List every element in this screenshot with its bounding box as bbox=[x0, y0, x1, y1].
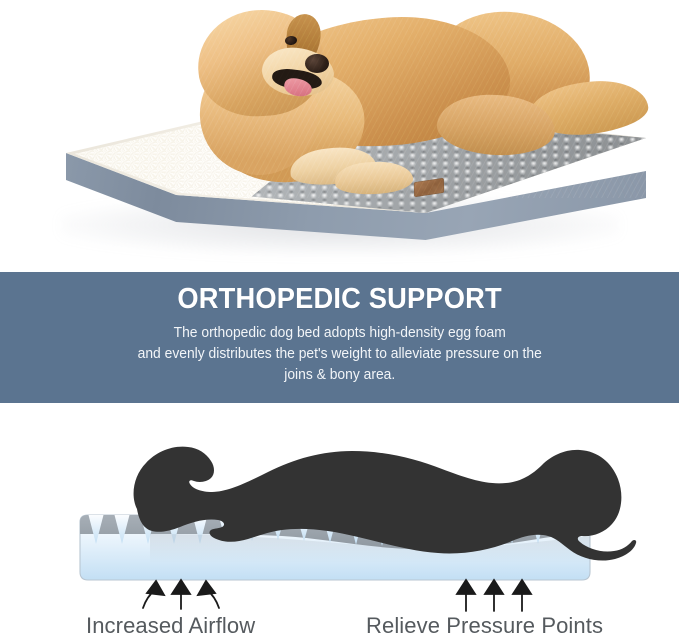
airflow-arrow-2 bbox=[172, 580, 190, 609]
orthopedic-support-banner: ORTHOPEDIC SUPPORT The orthopedic dog be… bbox=[0, 272, 679, 403]
banner-description-line-1: The orthopedic dog bed adopts high-densi… bbox=[137, 323, 541, 344]
product-photo-section bbox=[0, 0, 679, 272]
infographic-page: ORTHOPEDIC SUPPORT The orthopedic dog be… bbox=[0, 0, 679, 641]
pressure-arrow-3 bbox=[513, 580, 531, 611]
product-photo bbox=[0, 0, 679, 272]
banner-description: The orthopedic dog bed adopts high-densi… bbox=[137, 323, 541, 385]
banner-description-line-2: and evenly distributes the pet's weight … bbox=[137, 344, 541, 365]
dog-nose bbox=[305, 54, 329, 73]
pressure-arrow-2 bbox=[485, 580, 503, 611]
airflow-arrow-3 bbox=[198, 581, 219, 608]
cross-section-illustration bbox=[0, 403, 679, 641]
airflow-arrow-1 bbox=[143, 581, 164, 608]
caption-relieve-pressure-points: Relieve Pressure Points bbox=[366, 613, 603, 639]
banner-description-line-3: joins & bony area. bbox=[137, 365, 541, 386]
pressure-arrows bbox=[457, 580, 531, 611]
airflow-arrows bbox=[143, 580, 219, 609]
pressure-relief-diagram: Increased Airflow Relieve Pressure Point… bbox=[0, 403, 679, 641]
banner-title: ORTHOPEDIC SUPPORT bbox=[177, 284, 501, 314]
pressure-arrow-1 bbox=[457, 580, 475, 611]
caption-increased-airflow: Increased Airflow bbox=[86, 613, 255, 639]
